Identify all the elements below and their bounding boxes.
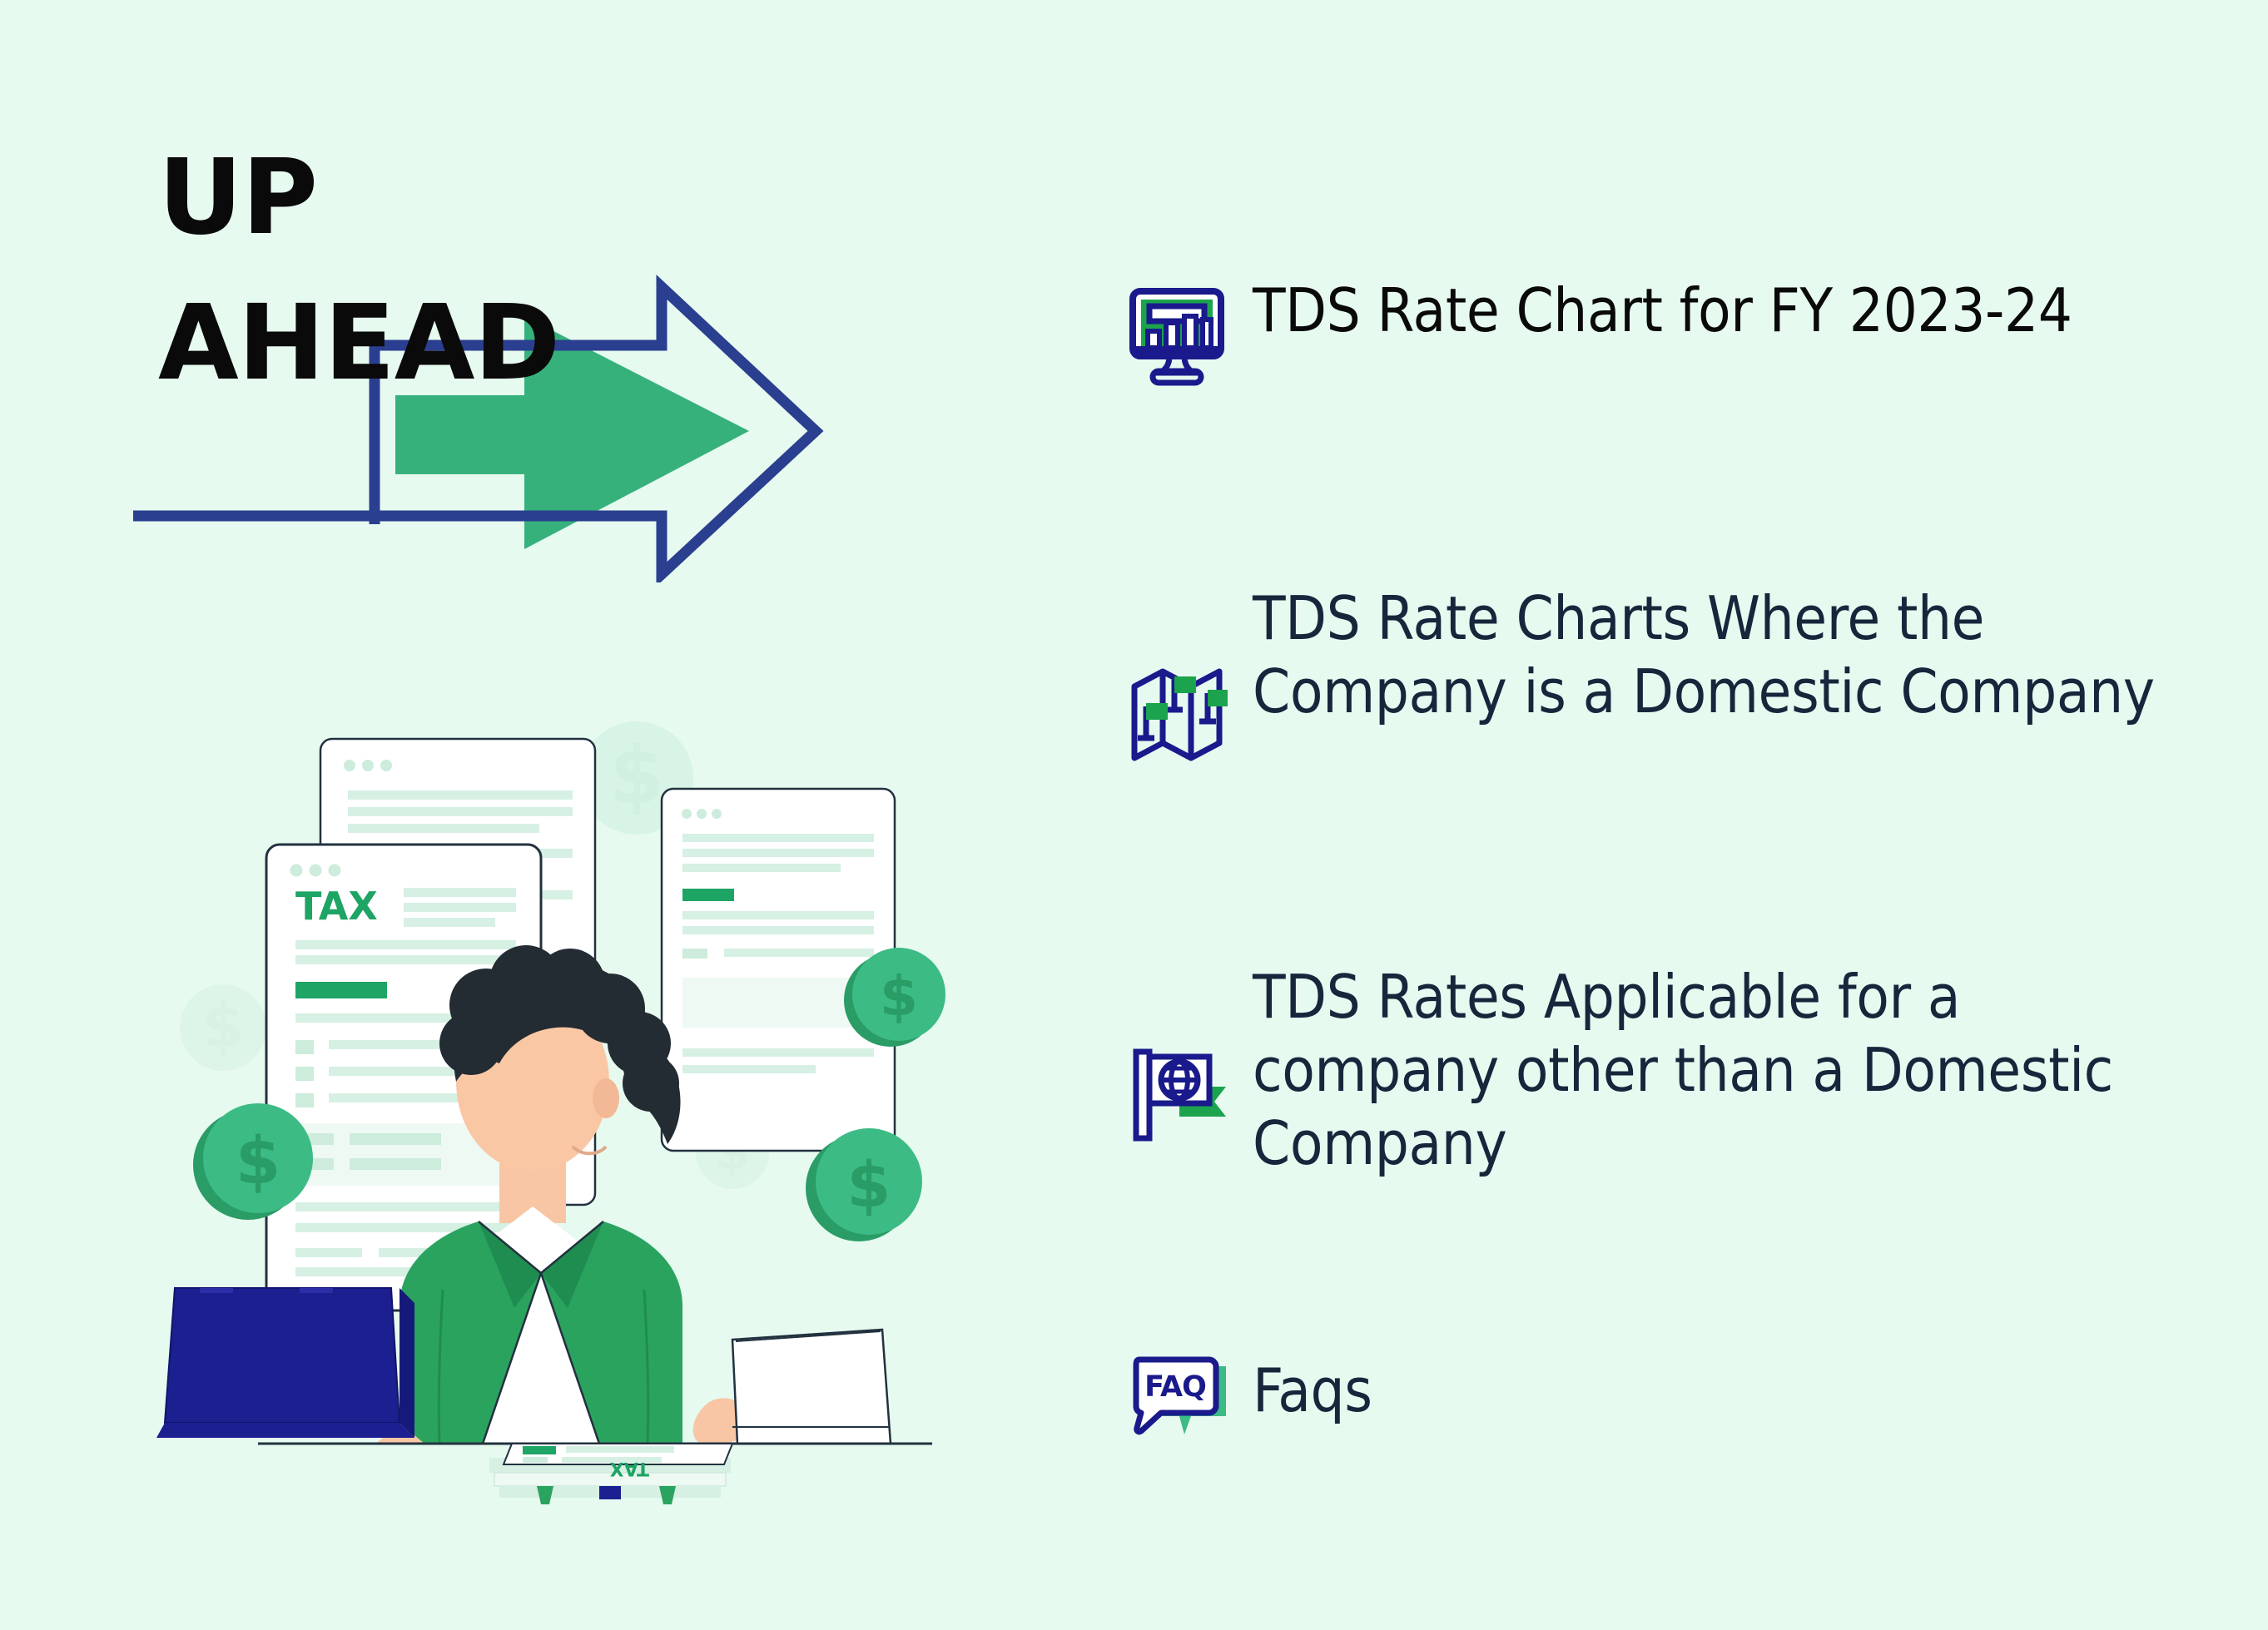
illustration-svg: $ $ $ xyxy=(150,691,990,1539)
page-title-line-1: UP xyxy=(158,146,674,250)
svg-text:$: $ xyxy=(847,1147,891,1221)
agenda-item-label: TDS Rate Chart for FY 2023-24 xyxy=(1253,275,2201,348)
desk-document-title: TAX xyxy=(610,1458,649,1479)
tax-document-title: TAX xyxy=(295,884,378,929)
svg-text:FAQ: FAQ xyxy=(1144,1370,1206,1404)
svg-text:$: $ xyxy=(202,991,244,1061)
globe-flag-icon xyxy=(1128,961,1253,1147)
agenda-item-other-than-domestic[interactable]: TDS Rates Applicable for a company other… xyxy=(1128,961,2201,1180)
tax-accountant-illustration: $ $ $ xyxy=(150,691,990,1539)
svg-text:$: $ xyxy=(609,731,664,822)
slide-canvas: UP AHEAD $ $ $ xyxy=(0,0,2268,1630)
agenda-item-domestic-company[interactable]: TDS Rate Charts Where the Company is a D… xyxy=(1128,582,2201,768)
monitor-bar-chart-icon xyxy=(1128,275,1253,389)
agenda-item-label: TDS Rate Charts Where the Company is a D… xyxy=(1253,582,2201,729)
svg-text:$: $ xyxy=(880,964,918,1028)
agenda-item-faqs[interactable]: FAQ Faqs xyxy=(1128,1348,2201,1454)
page-title-block: UP AHEAD xyxy=(158,146,674,395)
agenda-item-tds-rate-chart[interactable]: TDS Rate Chart for FY 2023-24 xyxy=(1128,275,2201,389)
faq-speech-bubble-icon: FAQ xyxy=(1128,1348,1253,1454)
desk-paper-stack: TAX xyxy=(489,1444,732,1504)
held-paper xyxy=(732,1330,891,1444)
agenda-item-label: Faqs xyxy=(1253,1348,2201,1428)
svg-text:$: $ xyxy=(236,1124,280,1199)
laptop xyxy=(156,1288,414,1438)
folded-map-icon xyxy=(1128,582,1253,768)
page-title-line-2: AHEAD xyxy=(158,291,674,395)
agenda-item-label: TDS Rates Applicable for a company other… xyxy=(1253,961,2201,1180)
